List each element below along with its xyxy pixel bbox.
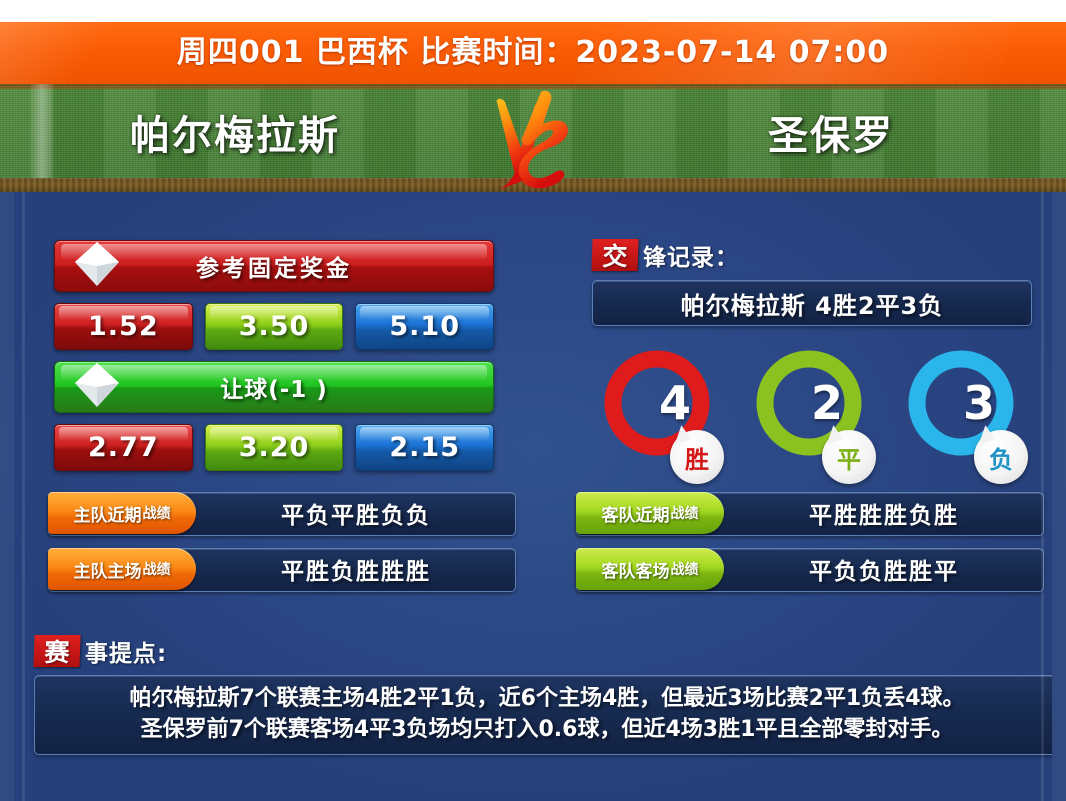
handicap-home-win[interactable]: 2.77 (54, 424, 193, 471)
ring-win-label: 胜 (670, 430, 724, 484)
match-header-title: 周四001 巴西杯 比赛时间：2023-07-14 07:00 (0, 22, 1066, 84)
handicap-prefix: 让球( (220, 377, 280, 403)
odds-draw[interactable]: 3.50 (205, 303, 344, 350)
analysis-text-box: 帕尔梅拉斯7个联赛主场4胜2平1负，近6个主场4胜，但最近3场比赛2平1负丢4球… (34, 675, 1060, 755)
home-venue-form-row: 主队主场战绩 平胜负胜胜胜 (48, 548, 516, 590)
odds-away-win[interactable]: 5.10 (355, 303, 494, 350)
away-recent-form-row: 客队近期战绩 平胜胜胜负胜 (576, 492, 1044, 534)
odds-home-win[interactable]: 1.52 (54, 303, 193, 350)
ring-draw: 2 平 (744, 346, 884, 496)
analysis-heading-text: 事提点: (85, 634, 167, 668)
away-venue-form-label: 客队客场战绩 (576, 548, 724, 590)
infographic-root: 周四001 巴西杯 比赛时间：2023-07-14 07:00 帕尔梅拉斯 圣保… (0, 0, 1066, 801)
away-form-column: 客队近期战绩 平胜胜胜负胜 客队客场战绩 平负负胜胜平 (576, 492, 1044, 604)
analysis-line-2: 圣保罗前7个联赛客场4平3负场均只打入0.6球，但近4场3胜1平且全部零封对手。 (45, 714, 1049, 745)
h2h-badge: 交 (591, 239, 638, 271)
analysis-block: 赛 事提点: 帕尔梅拉斯7个联赛主场4胜2平1负，近6个主场4胜，但最近3场比赛… (34, 634, 1060, 755)
ring-lose-label: 负 (974, 430, 1028, 484)
handicap-value: -1 (280, 377, 308, 403)
home-form-column: 主队近期战绩 平负平胜负负 主队主场战绩 平胜负胜胜胜 (48, 492, 516, 604)
handicap-title-text: 让球(-1 ) (220, 370, 328, 404)
handicap-away-win[interactable]: 2.15 (355, 424, 494, 471)
handicap-suffix: ) (307, 377, 328, 403)
away-recent-form-label: 客队近期战绩 (576, 492, 724, 534)
away-team-name: 圣保罗 (596, 103, 1066, 161)
home-venue-form-value: 平胜负胜胜胜 (196, 548, 516, 590)
h2h-heading-text: 锋记录： (643, 238, 739, 272)
stats-panel: 参考固定奖金 1.52 3.50 5.10 让球(-1 ) 2.77 3 (0, 192, 1066, 801)
diamond-icon (71, 238, 123, 290)
ring-win: 4 胜 (592, 346, 732, 496)
home-team-name: 帕尔梅拉斯 (0, 103, 470, 161)
match-header-bar: 周四001 巴西杯 比赛时间：2023-07-14 07:00 (0, 22, 1066, 84)
away-venue-form-row: 客队客场战绩 平负负胜胜平 (576, 548, 1044, 590)
h2h-heading: 交 锋记录： (592, 238, 1032, 272)
h2h-rings: 4 胜 2 平 3 负 (592, 346, 1032, 496)
analysis-line-1: 帕尔梅拉斯7个联赛主场4胜2平1负，近6个主场4胜，但最近3场比赛2平1负丢4球… (45, 683, 1049, 714)
vs-flame-icon (481, 86, 585, 194)
ring-draw-label: 平 (822, 430, 876, 484)
home-recent-form-value: 平负平胜负负 (196, 492, 516, 534)
diamond-icon (71, 359, 123, 411)
handicap-title-bar: 让球(-1 ) (54, 361, 494, 413)
ring-lose: 3 负 (896, 346, 1036, 496)
head-to-head-block: 交 锋记录： 帕尔梅拉斯 4胜2平3负 4 胜 2 平 (592, 238, 1032, 496)
odds-block: 参考固定奖金 1.52 3.50 5.10 让球(-1 ) 2.77 3 (54, 240, 494, 471)
h2h-summary: 帕尔梅拉斯 4胜2平3负 (592, 280, 1032, 326)
fixed-odds-title-bar: 参考固定奖金 (54, 240, 494, 292)
fixed-odds-title-text: 参考固定奖金 (196, 249, 352, 283)
home-recent-form-row: 主队近期战绩 平负平胜负负 (48, 492, 516, 534)
away-venue-form-value: 平负负胜胜平 (724, 548, 1044, 590)
home-venue-form-label: 主队主场战绩 (48, 548, 196, 590)
away-recent-form-value: 平胜胜胜负胜 (724, 492, 1044, 534)
handicap-odds-row: 2.77 3.20 2.15 (54, 424, 494, 471)
analysis-heading: 赛 事提点: (34, 634, 1060, 668)
analysis-badge: 赛 (33, 635, 80, 667)
fixed-odds-row: 1.52 3.50 5.10 (54, 303, 494, 350)
home-recent-form-label: 主队近期战绩 (48, 492, 196, 534)
handicap-draw[interactable]: 3.20 (205, 424, 344, 471)
